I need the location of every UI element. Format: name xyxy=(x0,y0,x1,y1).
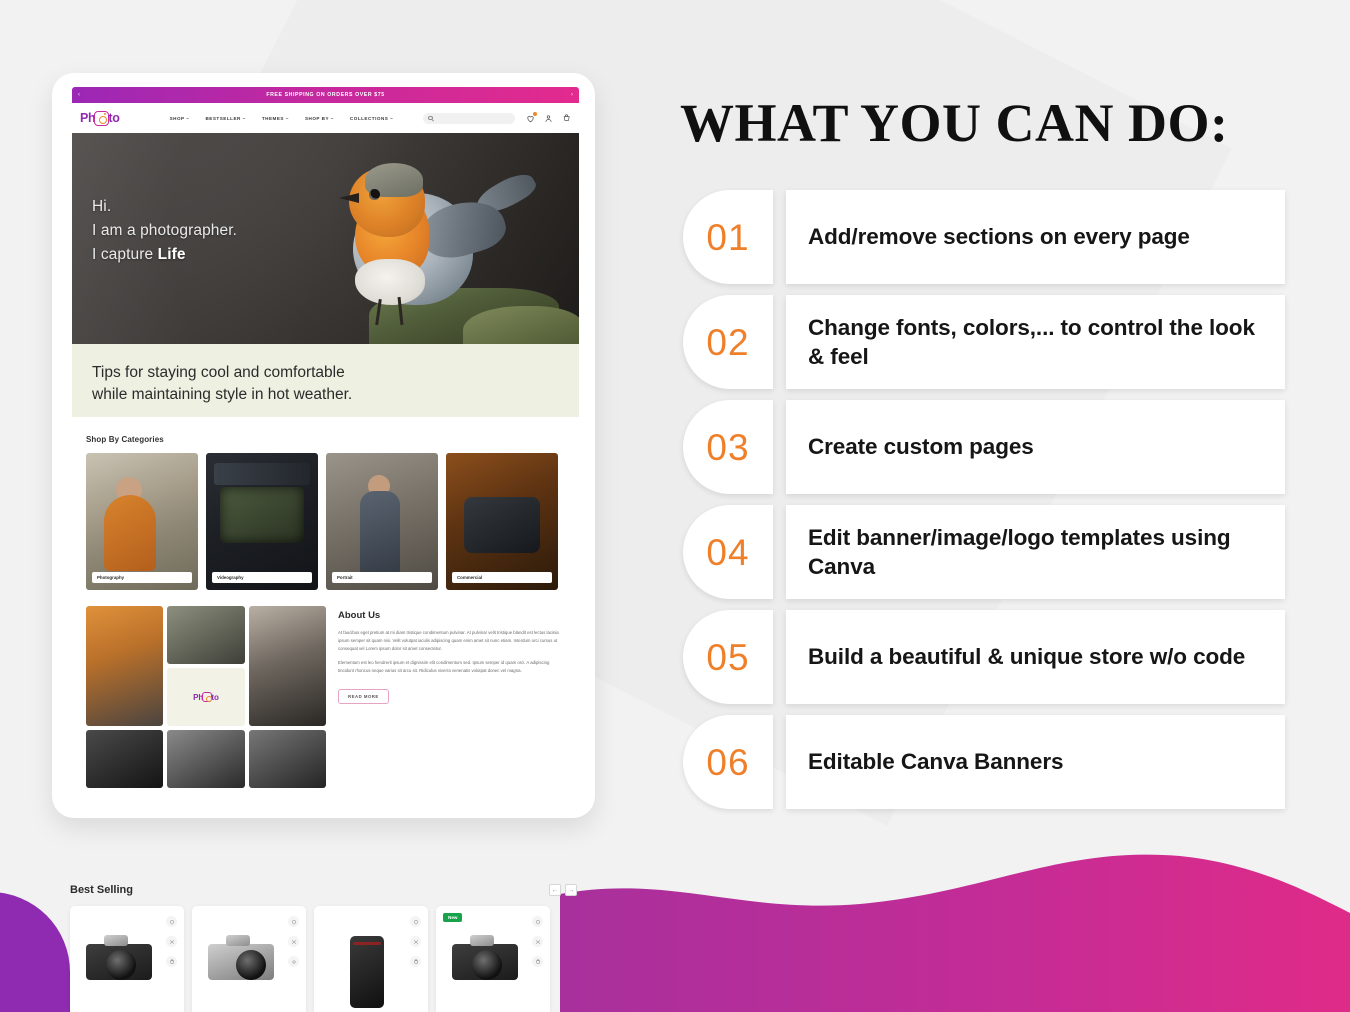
item-number-badge: 05 xyxy=(683,610,773,704)
about-paragraph-1: At faucibus eget pretium at mi diam tris… xyxy=(338,629,565,653)
compare-icon[interactable] xyxy=(410,936,421,947)
nav-link-shop[interactable]: SHOP ~ xyxy=(170,116,190,121)
category-card[interactable]: Portrait xyxy=(326,453,438,590)
category-label: Photography xyxy=(92,572,192,583)
hero-line-2: I am a photographer. xyxy=(92,219,237,243)
product-image xyxy=(328,930,400,992)
category-label: Videography xyxy=(212,572,312,583)
wishlist-heart-icon[interactable] xyxy=(288,916,299,927)
about-section: Ph to About Us At faucibus eget pretium … xyxy=(72,590,579,804)
features-panel: WHAT YOU CAN DO: 01 Add/remove sections … xyxy=(672,0,1350,1012)
feature-list: 01 Add/remove sections on every page 02 … xyxy=(683,190,1285,820)
collage-photo xyxy=(86,606,163,726)
cart-icon[interactable] xyxy=(562,114,571,123)
logo-suffix: to xyxy=(108,111,119,125)
product-card[interactable] xyxy=(314,906,428,1012)
announcement-text: FREE SHIPPING ON ORDERS OVER $75 xyxy=(80,92,571,98)
nav-link-collections[interactable]: COLLECTIONS ~ xyxy=(350,116,393,121)
background-purple-corner-shape xyxy=(0,892,70,1012)
category-image xyxy=(446,453,558,590)
product-image xyxy=(84,930,156,992)
item-number: 01 xyxy=(706,219,749,256)
store-preview-mockup: ‹ FREE SHIPPING ON ORDERS OVER $75 › Ph … xyxy=(52,73,595,818)
nav-link-bestseller[interactable]: BESTSELLER ~ xyxy=(205,116,245,121)
product-card[interactable] xyxy=(192,906,306,1012)
item-number: 04 xyxy=(706,534,749,571)
product-actions xyxy=(288,916,299,967)
best-selling-title: Best Selling xyxy=(70,884,133,896)
wishlist-count-badge xyxy=(533,112,537,116)
nav-icons xyxy=(526,114,571,123)
collage-photo xyxy=(167,606,244,664)
new-badge: New xyxy=(443,913,462,922)
search-input[interactable] xyxy=(423,113,515,124)
about-paragraph-2: Elementum est leo hendrerit ipsum et dig… xyxy=(338,659,565,675)
category-label: Portrait xyxy=(332,572,432,583)
camera-icon xyxy=(94,111,109,126)
compare-icon[interactable] xyxy=(288,936,299,947)
product-image xyxy=(450,930,522,992)
list-item[interactable]: 04 Edit banner/image/logo templates usin… xyxy=(683,505,1285,599)
item-number-badge: 04 xyxy=(683,505,773,599)
product-actions xyxy=(410,916,421,967)
hero-line-3: I capture Life xyxy=(92,243,237,267)
item-card: Edit banner/image/logo templates using C… xyxy=(786,505,1285,599)
item-number: 02 xyxy=(706,324,749,361)
item-number-badge: 01 xyxy=(683,190,773,284)
about-logo-suffix: to xyxy=(211,693,219,702)
store-logo[interactable]: Ph to xyxy=(80,111,120,126)
category-card[interactable]: Videography xyxy=(206,453,318,590)
tips-banner: Tips for staying cool and comfortable wh… xyxy=(72,344,579,417)
best-selling-header: Best Selling ← → xyxy=(70,884,577,896)
item-number: 05 xyxy=(706,639,749,676)
collage-photo xyxy=(86,730,163,788)
item-label: Change fonts, colors,... to control the … xyxy=(808,313,1263,372)
cart-icon[interactable] xyxy=(410,956,421,967)
item-label: Add/remove sections on every page xyxy=(808,222,1190,251)
compare-icon[interactable] xyxy=(532,936,543,947)
item-label: Edit banner/image/logo templates using C… xyxy=(808,523,1263,582)
logo-prefix: Ph xyxy=(80,111,95,125)
cart-icon[interactable] xyxy=(166,956,177,967)
announcement-prev-icon[interactable]: ‹ xyxy=(78,92,80,98)
wishlist-heart-icon[interactable] xyxy=(532,916,543,927)
camera-icon xyxy=(202,692,212,702)
category-card[interactable]: Photography xyxy=(86,453,198,590)
about-logo: Ph to xyxy=(193,692,219,702)
item-number-badge: 06 xyxy=(683,715,773,809)
category-image xyxy=(326,453,438,590)
cart-icon[interactable] xyxy=(532,956,543,967)
hero-line-1: Hi. xyxy=(92,195,237,219)
list-item[interactable]: 06 Editable Canva Banners xyxy=(683,715,1285,809)
hero-text: Hi. I am a photographer. I capture Life xyxy=(92,195,237,267)
about-title: About Us xyxy=(338,610,565,621)
hero-line-3-prefix: I capture xyxy=(92,246,158,263)
product-card[interactable] xyxy=(70,906,184,1012)
about-text-column: About Us At faucibus eget pretium at mi … xyxy=(338,606,565,788)
item-number-badge: 03 xyxy=(683,400,773,494)
nav-link-themes[interactable]: THEMES ~ xyxy=(262,116,289,121)
announcement-bar: ‹ FREE SHIPPING ON ORDERS OVER $75 › xyxy=(72,87,579,103)
hero-line-3-bold: Life xyxy=(158,246,186,263)
collage-photo xyxy=(249,606,326,726)
best-selling-section: Best Selling ← → xyxy=(70,884,577,1012)
settings-icon[interactable] xyxy=(288,956,299,967)
slide-canvas: ‹ FREE SHIPPING ON ORDERS OVER $75 › Ph … xyxy=(0,0,1350,1012)
product-card[interactable]: New xyxy=(436,906,550,1012)
list-item[interactable]: 03 Create custom pages xyxy=(683,400,1285,494)
item-label: Create custom pages xyxy=(808,432,1034,461)
product-carousel: New xyxy=(70,906,577,1012)
list-item[interactable]: 01 Add/remove sections on every page xyxy=(683,190,1285,284)
item-number: 03 xyxy=(706,429,749,466)
item-card: Change fonts, colors,... to control the … xyxy=(786,295,1285,389)
store-navbar: Ph to SHOP ~ BESTSELLER ~ THEMES ~ SHOP … xyxy=(72,103,579,133)
carousel-controls: ← → xyxy=(549,884,577,896)
category-card[interactable]: Commercial xyxy=(446,453,558,590)
item-label: Editable Canva Banners xyxy=(808,747,1063,776)
item-label: Build a beautiful & unique store w/o cod… xyxy=(808,642,1245,671)
collage-photo xyxy=(167,730,244,788)
about-photo-collage: Ph to xyxy=(86,606,326,788)
category-image xyxy=(86,453,198,590)
collage-photo xyxy=(249,730,326,788)
tips-line-1: Tips for staying cool and comfortable xyxy=(92,364,345,381)
account-icon[interactable] xyxy=(544,114,553,123)
carousel-next-button[interactable]: → xyxy=(565,884,577,896)
item-card: Create custom pages xyxy=(786,400,1285,494)
nav-links: SHOP ~ BESTSELLER ~ THEMES ~ SHOP BY ~ C… xyxy=(170,116,394,121)
item-card: Editable Canva Banners xyxy=(786,715,1285,809)
store-preview-viewport: ‹ FREE SHIPPING ON ORDERS OVER $75 › Ph … xyxy=(72,87,579,804)
compare-icon[interactable] xyxy=(166,936,177,947)
hero-banner: Hi. I am a photographer. I capture Life xyxy=(72,133,579,344)
page-title: WHAT YOU CAN DO: xyxy=(680,92,1229,154)
wishlist-heart-icon[interactable] xyxy=(526,114,535,123)
product-actions xyxy=(532,916,543,967)
tips-line-2: while maintaining style in hot weather. xyxy=(92,386,352,403)
item-number-badge: 02 xyxy=(683,295,773,389)
product-actions xyxy=(166,916,177,967)
categories-section: Shop By Categories Photography Videograp… xyxy=(72,417,579,590)
wishlist-heart-icon[interactable] xyxy=(410,916,421,927)
wishlist-heart-icon[interactable] xyxy=(166,916,177,927)
product-image xyxy=(206,930,278,992)
read-more-button[interactable]: READ MORE xyxy=(338,689,389,704)
item-card: Add/remove sections on every page xyxy=(786,190,1285,284)
announcement-next-icon[interactable]: › xyxy=(571,92,573,98)
categories-title: Shop By Categories xyxy=(86,435,565,444)
collage-logo-tile: Ph to xyxy=(167,668,244,726)
category-label: Commercial xyxy=(452,572,552,583)
item-card: Build a beautiful & unique store w/o cod… xyxy=(786,610,1285,704)
list-item[interactable]: 02 Change fonts, colors,... to control t… xyxy=(683,295,1285,389)
list-item[interactable]: 05 Build a beautiful & unique store w/o … xyxy=(683,610,1285,704)
category-grid: Photography Videography Portrait Commerc… xyxy=(86,453,565,590)
nav-link-shop-by[interactable]: SHOP BY ~ xyxy=(305,116,334,121)
item-number: 06 xyxy=(706,744,749,781)
category-image xyxy=(206,453,318,590)
carousel-prev-button[interactable]: ← xyxy=(549,884,561,896)
search-icon xyxy=(428,116,433,121)
hero-bird-illustration xyxy=(325,159,515,329)
